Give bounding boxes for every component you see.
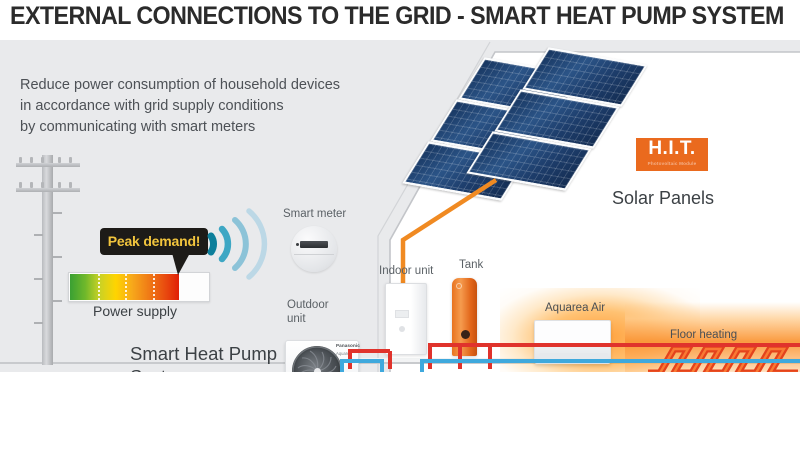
outdoor-unit-line-2: unit	[287, 312, 329, 326]
insulator	[41, 182, 44, 188]
gauge-tick	[153, 274, 155, 300]
hit-wordmark: H.I.T.	[636, 137, 708, 161]
solar-panels-label: Solar Panels	[612, 188, 714, 209]
pole-peg	[53, 300, 62, 302]
callout-label: Peak demand!	[100, 228, 208, 255]
tank-top-port-icon	[456, 283, 462, 289]
pole-peg	[53, 256, 62, 258]
pole-peg	[34, 278, 43, 280]
wifi-signal-icon	[203, 206, 281, 282]
pole-peg	[34, 234, 43, 236]
pole-peg	[53, 212, 62, 214]
indoor-unit-label: Indoor unit	[379, 265, 433, 277]
insulator	[69, 182, 72, 188]
insulator	[30, 182, 33, 188]
page-title: EXTERNAL CONNECTIONS TO THE GRID - SMART…	[10, 2, 735, 38]
peak-demand-callout: Peak demand!	[100, 228, 208, 255]
gauge-tick	[125, 274, 127, 300]
insulator	[19, 157, 22, 163]
insulator	[30, 157, 33, 163]
aquarea-air-label: Aquarea Air	[545, 302, 605, 314]
tank-label: Tank	[459, 259, 483, 271]
smart-heat-pump-system-label: Smart Heat Pump System	[130, 342, 277, 372]
pipe-network	[330, 325, 800, 372]
hit-logo: H.I.T. Photovoltaic Module	[636, 138, 708, 171]
system-diagram: Reduce power consumption of household de…	[0, 40, 800, 372]
callout-tail	[172, 253, 190, 275]
shps-line-1: Smart Heat Pump	[130, 342, 277, 365]
gauge-tick	[98, 274, 100, 300]
pole-crossarm-lower	[16, 188, 80, 192]
outdoor-unit-line-1: Outdoor	[287, 298, 329, 312]
insulator	[58, 157, 61, 163]
hit-subtitle: Photovoltaic Module	[636, 159, 708, 169]
insulator	[58, 182, 61, 188]
indoor-unit-display	[395, 310, 409, 318]
gauge-label: Power supply	[93, 303, 177, 319]
power-supply-gauge	[68, 272, 210, 302]
insulator	[69, 157, 72, 163]
insulator	[41, 157, 44, 163]
insulator	[19, 182, 22, 188]
outdoor-unit-label: Outdoor unit	[287, 298, 329, 326]
fan-hub	[314, 368, 321, 372]
pole-crossarm-upper	[16, 163, 80, 167]
smart-meter-indicator-icon	[296, 243, 299, 246]
pole-peg	[34, 322, 43, 324]
shps-line-2: System	[130, 365, 277, 372]
diagram-canvas: EXTERNAL CONNECTIONS TO THE GRID - SMART…	[0, 0, 800, 468]
